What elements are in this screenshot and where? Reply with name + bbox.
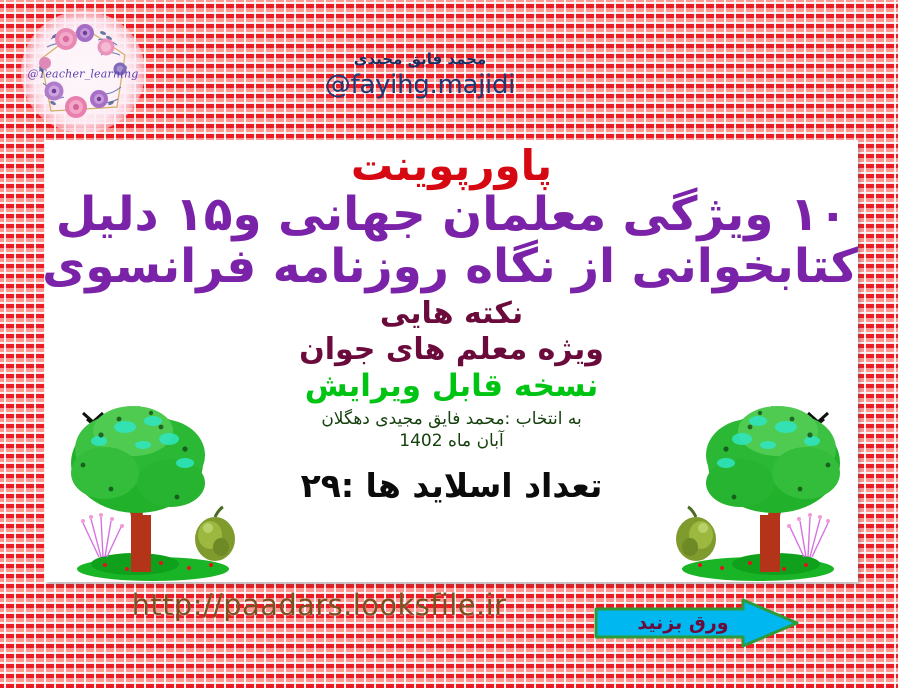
white-slide-panel: پاورپوینت ۱۰ ویژگی معلمان جهانی و۱۵ دلیل…	[45, 140, 858, 582]
author-handle: @fayihg.majidi	[255, 69, 585, 102]
slide-subtitle-1: نکته هایی	[45, 296, 858, 332]
author-handle-block: محمد فایق مجیدی @fayihg.majidi	[255, 50, 585, 101]
website-url-text: http://paadars.looksfile.ir	[132, 588, 507, 622]
slide-text-block: پاورپوینت ۱۰ ویژگی معلمان جهانی و۱۵ دلیل…	[45, 140, 858, 506]
logo-label: @Teacher_learning	[21, 68, 145, 81]
pear-fruit	[676, 507, 716, 561]
slide-kicker: پاورپوینت	[45, 144, 858, 189]
slide-count: تعداد اسلاید ها :۲۹	[45, 466, 858, 506]
slide-title-line-2: کتابخوانی از نگاه روزنامه فرانسوی فیگارو	[45, 241, 858, 294]
flower-spray	[83, 517, 121, 557]
credit-line-2: آبان ماه 1402	[45, 430, 858, 452]
slide-canvas: @Teacher_learning محمد فایق مجیدی @fayih…	[0, 0, 898, 688]
credit-line-1: به انتخاب :محمد فایق مجیدی دهگلان	[45, 408, 858, 430]
pear-fruit	[195, 507, 235, 561]
flip-page-button[interactable]: ورق بزنید	[593, 597, 800, 649]
editable-version-note: نسخه قابل ویرایش	[45, 368, 858, 405]
slide-title-line-1: ۱۰ ویژگی معلمان جهانی و۱۵ دلیل	[45, 189, 858, 242]
teacher-learning-logo: @Teacher_learning	[21, 11, 145, 133]
author-name: محمد فایق مجیدی	[255, 50, 585, 69]
slide-subtitle-2: ویژه معلم های جوان	[45, 332, 858, 368]
right-arrow-icon	[593, 597, 800, 649]
flower-spray	[790, 517, 828, 557]
